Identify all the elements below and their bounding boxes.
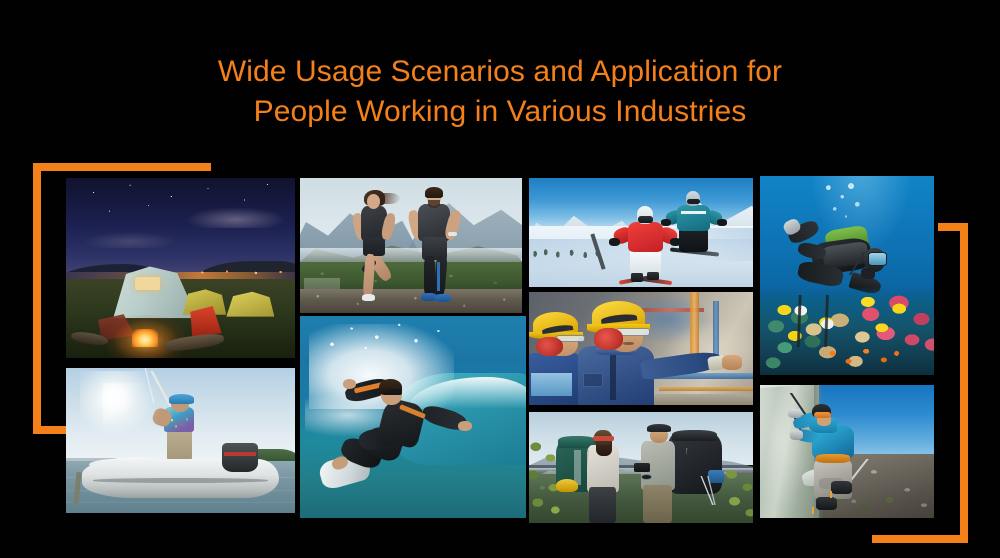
photo-skiing: [529, 178, 753, 287]
hiking-illustration: [529, 412, 753, 523]
photo-construction-workers: [529, 292, 753, 405]
camping-illustration: [66, 178, 295, 358]
photo-ice-climbing: [760, 385, 934, 518]
diving-illustration: [760, 176, 934, 375]
page-title: Wide Usage Scenarios and Application for…: [0, 52, 1000, 132]
right-corner-bracket: [938, 223, 968, 535]
fishing-illustration: [66, 368, 295, 513]
surfing-illustration: [300, 316, 526, 518]
photo-scuba-diving: [760, 176, 934, 375]
photo-fishing: [66, 368, 295, 513]
photo-camping: [66, 178, 295, 358]
climbing-illustration: [760, 385, 934, 518]
construction-illustration: [529, 292, 753, 405]
photo-surfing: [300, 316, 526, 518]
photo-hiking: [529, 412, 753, 523]
running-illustration: [300, 178, 522, 313]
skiing-illustration: [529, 178, 753, 287]
photo-running: [300, 178, 522, 313]
